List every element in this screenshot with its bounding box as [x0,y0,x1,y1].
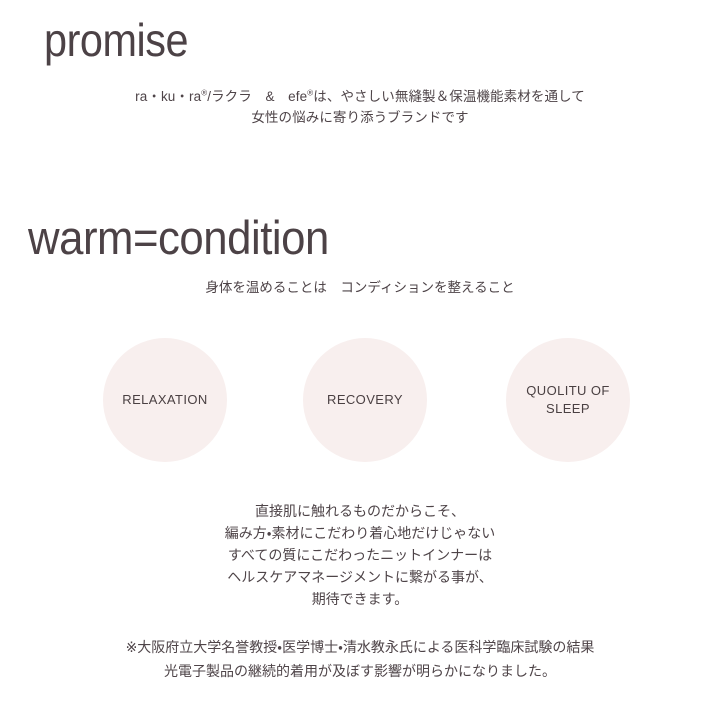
benefit-circle-label: RECOVERY [327,391,403,409]
warm-condition-heading: warm=condition [28,211,329,265]
benefit-circle-group: RELAXATION RECOVERY QUOLITU OF SLEEP [0,338,720,462]
body-copy-line-5: 期待できます。 [0,588,720,610]
body-copy-line-2: 編み方・素材にこだわり着心地だけじゃない [0,522,720,544]
body-copy-line-3: すべての質にこだわったニットインナーは [0,544,720,566]
promise-lead-line-2: 女性の悩みに寄り添うブランドです [0,107,720,128]
warm-condition-subtitle: 身体を温めることは コンディションを整えること [0,278,720,298]
benefit-circle-recovery: RECOVERY [303,338,427,462]
benefit-circle-quality-of-sleep: QUOLITU OF SLEEP [506,338,630,462]
benefit-circle-label: QUOLITU OF SLEEP [526,382,609,418]
footnote-paragraph: ※大阪府立大学名誉教授・医学博士・清水教永氏による医科学臨床試験の結果 光電子製… [0,635,720,683]
page-root: promise ra・ku・ra®/ラクラ & efe®は、やさしい無縫製＆保温… [0,0,720,720]
promise-lead-paragraph: ra・ku・ra®/ラクラ & efe®は、やさしい無縫製＆保温機能素材を通して… [0,86,720,128]
promise-brand-rakura: ra・ku・ra [135,89,201,104]
promise-lead-tail: は、やさしい無縫製＆保温機能素材を通して [313,89,585,104]
promise-lead-line-1: ra・ku・ra®/ラクラ & efe®は、やさしい無縫製＆保温機能素材を通して [0,86,720,107]
promise-lead-mid: /ラクラ & efe [207,89,307,104]
promise-heading: promise [44,14,188,66]
footnote-line-2: 光電子製品の継続的着用が及ぼす影響が明らかになりました。 [0,659,720,683]
benefit-circle-label: RELAXATION [122,391,207,409]
body-copy-line-1: 直接肌に触れるものだからこそ、 [0,500,720,522]
body-copy-line-4: ヘルスケアマネージメントに繋がる事が、 [0,566,720,588]
benefit-circle-relaxation: RELAXATION [103,338,227,462]
footnote-line-1: ※大阪府立大学名誉教授・医学博士・清水教永氏による医科学臨床試験の結果 [0,635,720,659]
body-copy-paragraph: 直接肌に触れるものだからこそ、 編み方・素材にこだわり着心地だけじゃない すべて… [0,500,720,610]
